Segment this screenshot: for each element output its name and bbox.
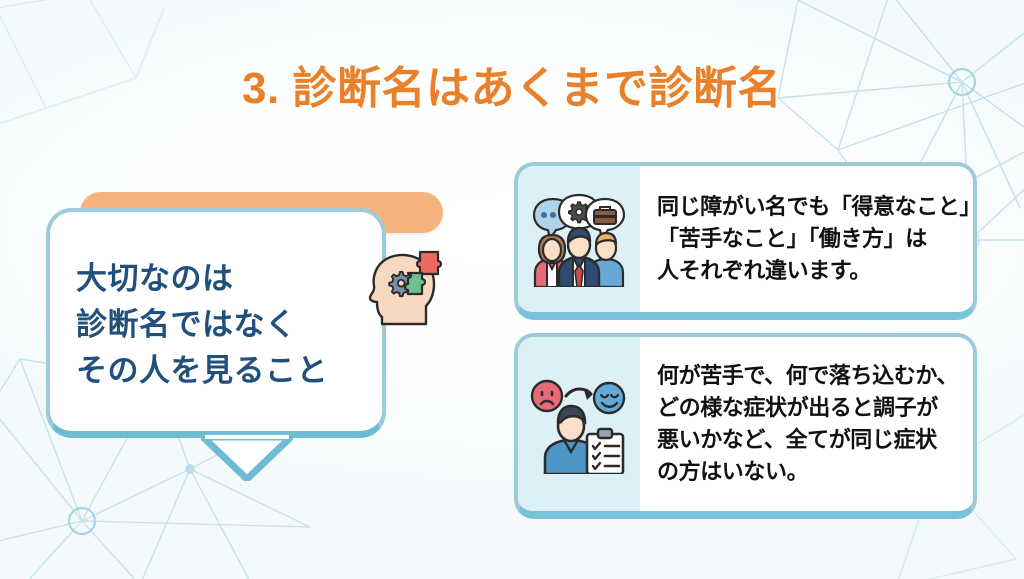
card-2-line-3: 悪いかなど、全てが同じ症状 [657,424,958,456]
card-2-line-4: の方はいない。 [657,456,958,488]
card-2-line-1: 何が苦手で、何で落ち込むか、 [657,360,958,392]
head-with-gear-and-puzzle-icon [364,248,446,328]
key-message-speech-bubble: 大切なのは 診断名ではなく その人を見ること [46,208,386,470]
page-title: 3. 診断名はあくまで診断名 [0,52,1024,116]
person-with-mood-faces-and-checklist-icon [529,374,629,474]
info-card-2-text-pane: 何が苦手で、何で落ち込むか、 どの様な症状が出ると調子が 悪いかなど、全てが同じ… [640,337,973,511]
info-card-1-text: 同じ障がい名でも「得意なこと」 「苦手なこと」「働き方」は 人それぞれ違います。 [657,191,977,287]
network-node-icon [69,508,95,534]
card-1-line-1: 同じ障がい名でも「得意なこと」 [657,191,977,223]
speech-bubble-tail-icon [201,435,293,481]
card-1-line-3: 人それぞれ違います。 [657,255,977,287]
info-card-1-text-pane: 同じ障がい名でも「得意なこと」 「苦手なこと」「働き方」は 人それぞれ違います。 [640,166,977,312]
info-card-1: 同じ障がい名でも「得意なこと」 「苦手なこと」「働き方」は 人それぞれ違います。 [514,162,977,320]
slide-canvas: 3. 診断名はあくまで診断名 大切なのは 診断名ではなく その人を見ること [0,0,1024,579]
callout-line-3: その人を見ること [76,348,376,394]
card-2-line-2: どの様な症状が出ると調子が [657,392,958,424]
info-card-2-icon-pane [518,337,640,511]
callout-line-2: 診断名ではなく [76,302,376,348]
info-card-2: 何が苦手で、何で落ち込むか、 どの様な症状が出ると調子が 悪いかなど、全てが同じ… [514,333,977,519]
info-card-2-text: 何が苦手で、何で落ち込むか、 どの様な症状が出ると調子が 悪いかなど、全てが同じ… [657,360,958,488]
speech-bubble-text: 大切なのは 診断名ではなく その人を見ること [76,256,376,394]
card-1-line-2: 「苦手なこと」「働き方」は [657,223,977,255]
callout-line-1: 大切なのは [76,256,376,302]
info-card-1-icon-pane [518,166,640,312]
three-people-with-speech-bubbles-icon [531,191,627,287]
